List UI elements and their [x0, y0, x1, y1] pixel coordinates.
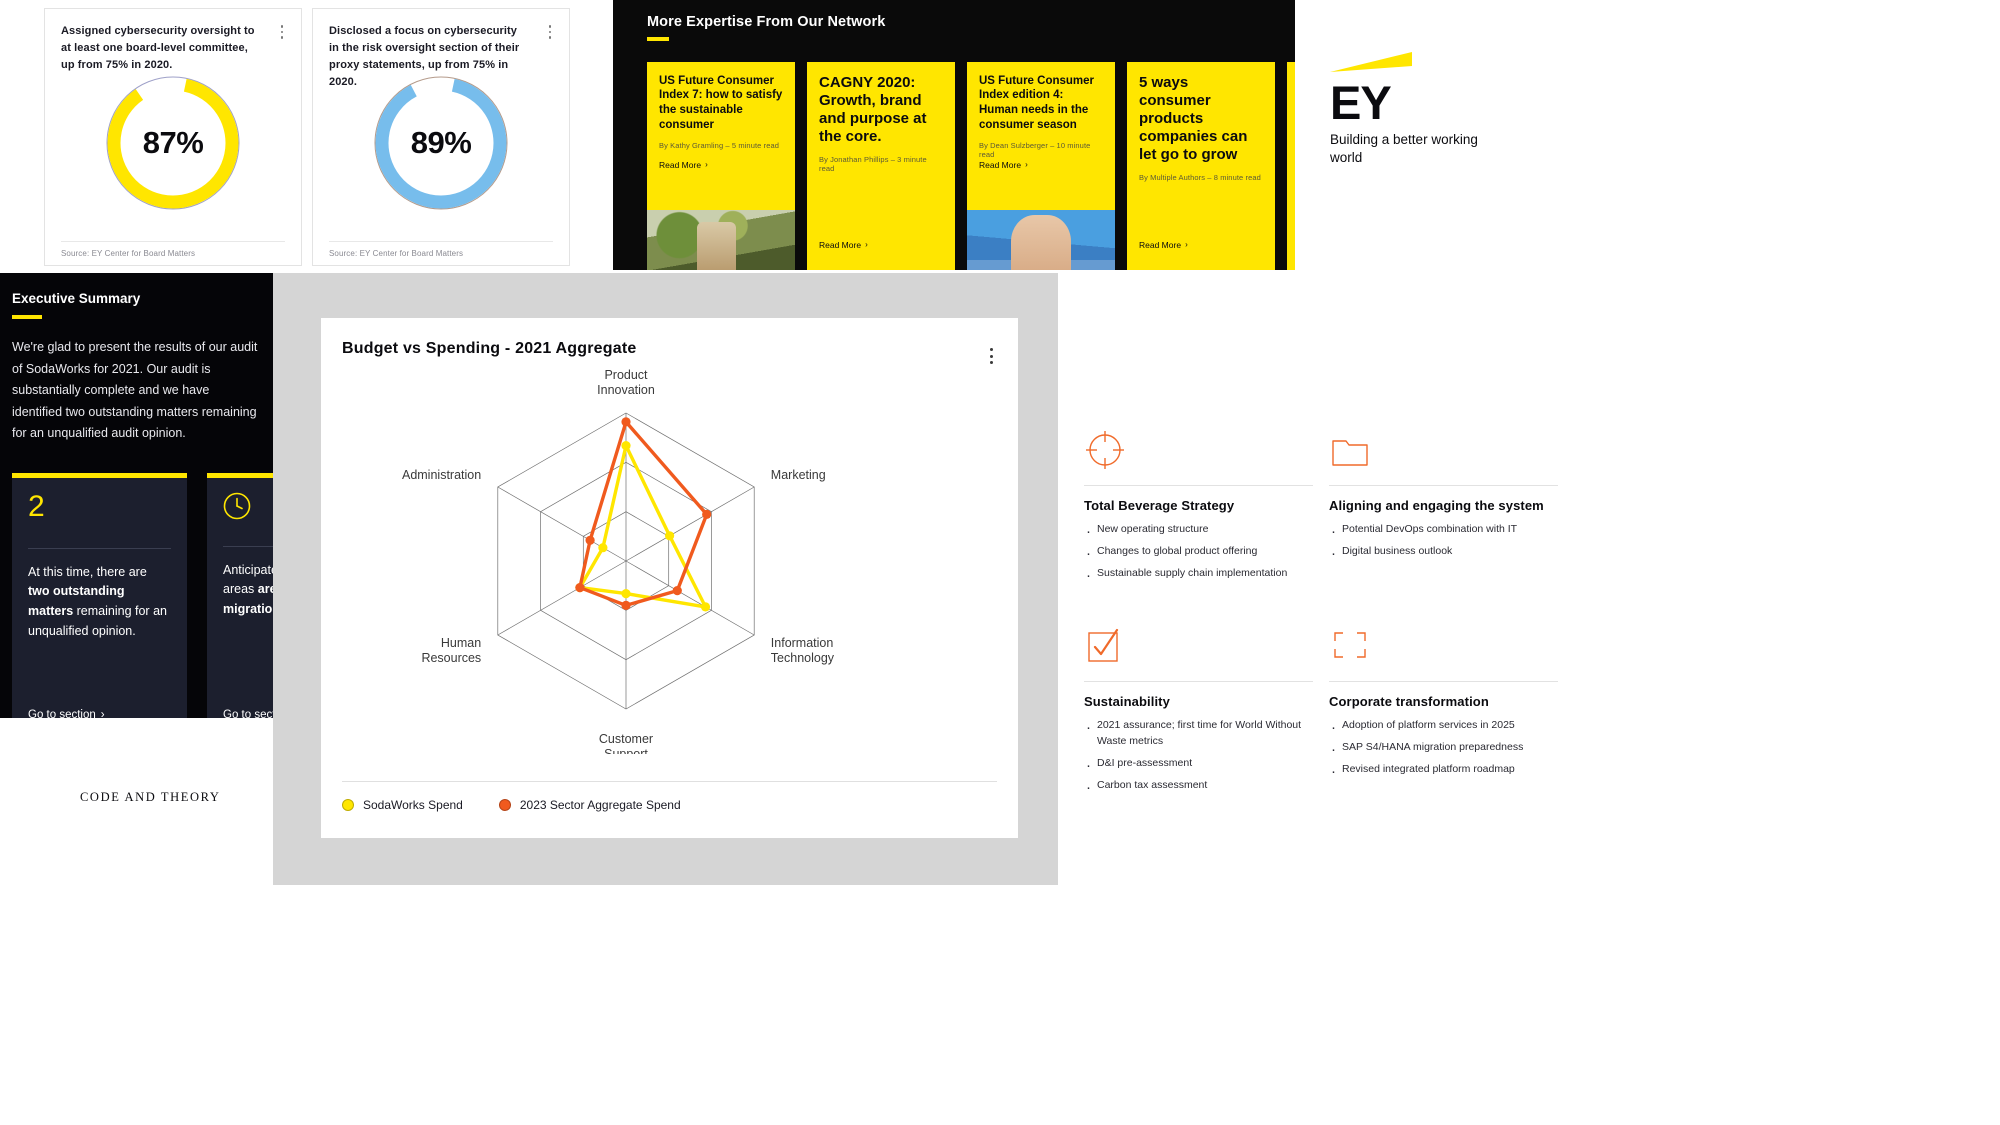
- legend-swatch: [499, 799, 511, 811]
- radar-point: [701, 602, 710, 611]
- executive-summary-title: Executive Summary: [12, 291, 273, 306]
- chart-footer: SodaWorks Spend 2023 Sector Aggregate Sp…: [342, 781, 997, 812]
- divider: [1329, 485, 1558, 486]
- stat-value: 87%: [98, 68, 248, 218]
- list-item: Sustainable supply chain implementation: [1084, 566, 1313, 582]
- ey-logo: EY Building a better working world: [1330, 52, 1510, 166]
- legend-item[interactable]: 2023 Sector Aggregate Spend: [499, 798, 681, 812]
- list-item: New operating structure: [1084, 522, 1313, 538]
- network-title: More Expertise From Our Network: [647, 14, 1295, 30]
- chart-title: Budget vs Spending - 2021 Aggregate: [342, 340, 1018, 358]
- article-card[interactable]: CAGNY 2020: Growth, brand and purpose at…: [807, 62, 955, 271]
- list-item: D&I pre-assessment: [1084, 756, 1313, 772]
- article-thumbnail: [647, 210, 795, 271]
- folder-icon: [1329, 425, 1558, 471]
- summary-card-list: 2 At this time, there are two outstandin…: [12, 473, 273, 719]
- feature-heading: Sustainability: [1084, 694, 1313, 709]
- list-item: Revised integrated platform roadmap: [1329, 762, 1558, 778]
- ey-swoosh-icon: [1330, 52, 1430, 74]
- divider: [1084, 485, 1313, 486]
- stat-card-group: Assigned cybersecurity oversight to at l…: [44, 8, 574, 266]
- list-item: 2021 assurance; first time for World Wit…: [1084, 718, 1313, 750]
- kebab-menu-icon[interactable]: [984, 346, 998, 366]
- divider: [223, 546, 273, 547]
- summary-card[interactable]: Anticipated 2022 audit areas are focused…: [207, 473, 273, 719]
- svg-text:HumanResources: HumanResources: [421, 636, 481, 665]
- feature-heading: Aligning and engaging the system: [1329, 498, 1558, 513]
- legend-label: SodaWorks Spend: [363, 798, 463, 812]
- go-to-section-label: Go to section: [223, 709, 273, 719]
- accent-rule: [12, 315, 42, 319]
- feature-heading: Corporate transformation: [1329, 694, 1558, 709]
- text-pre: At this time, there are: [28, 565, 147, 579]
- list-item: Digital business outlook: [1329, 544, 1558, 560]
- radar-point: [702, 510, 711, 519]
- feature-list: 2021 assurance; first time for World Wit…: [1084, 718, 1313, 793]
- radar-point: [598, 543, 607, 552]
- feature-block: Corporate transformation Adoption of pla…: [1329, 621, 1574, 799]
- radar-point: [621, 417, 630, 426]
- summary-card[interactable]: 2 At this time, there are two outstandin…: [12, 473, 187, 719]
- list-item: Potential DevOps combination with IT: [1329, 522, 1558, 538]
- article-card[interactable]: 5 ways consumer products companies can l…: [1127, 62, 1275, 271]
- article-card[interactable]: US Future Consumer Index 7: how to satis…: [647, 62, 795, 271]
- article-card[interactable]: US Future Consumer Index edition 4: Huma…: [967, 62, 1115, 271]
- stat-value: 89%: [366, 68, 516, 218]
- go-to-section-label: Go to section: [28, 709, 96, 719]
- article-byline: By Kathy Gramling – 5 minute read: [659, 141, 783, 150]
- article-byline: By Dean Sulzberger – 10 minute read: [979, 141, 1103, 159]
- chart-legend: SodaWorks Spend 2023 Sector Aggregate Sp…: [342, 798, 997, 812]
- chevron-right-icon: ›: [1025, 160, 1028, 169]
- go-to-section-link[interactable]: Go to section ›: [223, 709, 273, 719]
- read-more-label: Read More: [979, 160, 1021, 170]
- summary-card-text: At this time, there are two outstanding …: [28, 563, 171, 642]
- stat-source: Source: EY Center for Board Matters: [61, 241, 285, 258]
- radar-point: [665, 531, 674, 540]
- read-more-label: Read More: [659, 160, 701, 170]
- radar-point: [621, 441, 630, 450]
- go-to-section-link[interactable]: Go to section ›: [28, 709, 105, 719]
- radar-point: [586, 536, 595, 545]
- code-and-theory-wordmark: CODE AND THEORY: [80, 790, 220, 805]
- stat-card[interactable]: Disclosed a focus on cybersecurity in th…: [312, 8, 570, 266]
- ey-wordmark: EY: [1330, 81, 1510, 124]
- read-more-link[interactable]: Read More ›: [979, 160, 1028, 170]
- article-byline: By Jonathan Phillips – 3 minute read: [819, 155, 943, 173]
- kebab-menu-icon[interactable]: [543, 23, 557, 41]
- network-card-list: US Future Consumer Index 7: how to satis…: [647, 62, 1295, 271]
- feature-grid: Total Beverage Strategy New operating st…: [1084, 425, 1584, 799]
- article-headline: US Future Consumer Index 7: how to satis…: [659, 74, 783, 133]
- network-accent-rule: [647, 37, 669, 41]
- stat-card[interactable]: Assigned cybersecurity oversight to at l…: [44, 8, 302, 266]
- network-panel: More Expertise From Our Network US Futur…: [613, 0, 1295, 270]
- article-headline: 5 ways consumer products companies can l…: [1139, 74, 1263, 164]
- summary-card-text: Anticipated 2022 audit areas are focused…: [223, 561, 273, 620]
- checkbox-checked-icon: [1084, 621, 1313, 667]
- article-card-partial[interactable]: [1287, 62, 1295, 271]
- divider: [342, 781, 997, 782]
- svg-text:Administration: Administration: [402, 468, 481, 482]
- radar-point: [673, 586, 682, 595]
- target-crosshair-icon: [1084, 425, 1313, 471]
- executive-summary-body: We're glad to present the results of our…: [12, 337, 261, 445]
- feature-heading: Total Beverage Strategy: [1084, 498, 1313, 513]
- svg-text:InformationTechnology: InformationTechnology: [771, 636, 835, 665]
- radar-series: [580, 422, 707, 606]
- svg-text:CustomerSupport: CustomerSupport: [599, 732, 653, 754]
- radar-point: [575, 583, 584, 592]
- ey-tagline: Building a better working world: [1330, 131, 1510, 166]
- radar-chart-card: Budget vs Spending - 2021 Aggregate Prod…: [321, 318, 1018, 838]
- legend-item[interactable]: SodaWorks Spend: [342, 798, 463, 812]
- feature-row: Total Beverage Strategy New operating st…: [1084, 425, 1584, 587]
- article-headline: CAGNY 2020: Growth, brand and purpose at…: [819, 74, 943, 146]
- kebab-menu-icon[interactable]: [275, 23, 289, 41]
- feature-block: Aligning and engaging the system Potenti…: [1329, 425, 1574, 587]
- donut-chart: 87%: [45, 67, 301, 219]
- list-item: SAP S4/HANA migration preparedness: [1329, 740, 1558, 756]
- stat-source: Source: EY Center for Board Matters: [329, 241, 553, 258]
- feature-block: Sustainability 2021 assurance; first tim…: [1084, 621, 1329, 799]
- feature-block: Total Beverage Strategy New operating st…: [1084, 425, 1329, 587]
- radar-point: [621, 601, 630, 610]
- article-byline: By Multiple Authors – 8 minute read: [1139, 173, 1263, 182]
- svg-text:Marketing: Marketing: [771, 468, 826, 482]
- list-item: Changes to global product offering: [1084, 544, 1313, 560]
- chevron-right-icon: ›: [1185, 240, 1188, 249]
- read-more-link[interactable]: Read More ›: [659, 160, 708, 170]
- divider: [28, 548, 171, 549]
- feature-list: Adoption of platform services in 2025 SA…: [1329, 718, 1558, 777]
- executive-summary-panel: Executive Summary We're glad to present …: [0, 273, 273, 718]
- svg-text:ProductInnovation: ProductInnovation: [597, 368, 655, 397]
- divider: [1084, 681, 1313, 682]
- radar-point: [621, 589, 630, 598]
- read-more-link[interactable]: Read More ›: [819, 240, 868, 250]
- feature-list: New operating structure Changes to globa…: [1084, 522, 1313, 581]
- article-headline: US Future Consumer Index edition 4: Huma…: [979, 74, 1103, 133]
- clock-icon: [223, 492, 251, 520]
- crop-frame-icon: [1329, 621, 1558, 667]
- radar-chart-svg: ProductInnovationMarketingInformationTec…: [321, 364, 1018, 754]
- read-more-label: Read More: [1139, 240, 1181, 250]
- chevron-right-icon: ›: [865, 240, 868, 249]
- summary-badge-number: 2: [28, 492, 171, 522]
- read-more-label: Read More: [819, 240, 861, 250]
- divider: [1329, 681, 1558, 682]
- read-more-link[interactable]: Read More ›: [1139, 240, 1188, 250]
- legend-swatch: [342, 799, 354, 811]
- chevron-right-icon: ›: [101, 709, 105, 719]
- feature-row: Sustainability 2021 assurance; first tim…: [1084, 621, 1584, 799]
- legend-label: 2023 Sector Aggregate Spend: [520, 798, 681, 812]
- article-thumbnail: [967, 210, 1115, 271]
- list-item: Carbon tax assessment: [1084, 778, 1313, 794]
- donut-chart: 89%: [313, 67, 569, 219]
- chevron-right-icon: ›: [705, 160, 708, 169]
- feature-list: Potential DevOps combination with IT Dig…: [1329, 522, 1558, 560]
- list-item: Adoption of platform services in 2025: [1329, 718, 1558, 734]
